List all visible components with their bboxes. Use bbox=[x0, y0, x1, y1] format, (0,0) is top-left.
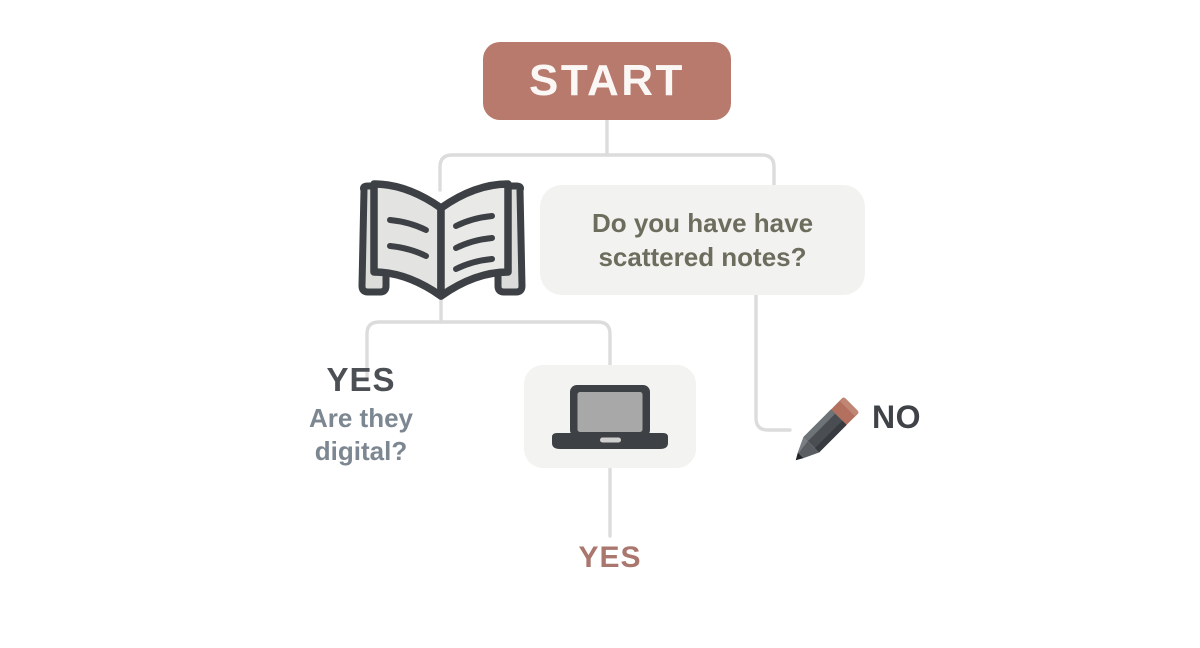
final-yes-label: YES bbox=[520, 543, 700, 573]
no-branch: NO bbox=[783, 388, 943, 474]
question-node[interactable]: Do you have have scattered notes? bbox=[540, 185, 865, 295]
start-node[interactable]: START bbox=[483, 42, 731, 120]
question-text: Do you have have scattered notes? bbox=[573, 206, 833, 275]
yes-branch: YES Are they digital? bbox=[252, 362, 470, 467]
laptop-trackpad bbox=[600, 438, 621, 443]
yes-branch-sublabel-line2: digital? bbox=[315, 436, 407, 466]
open-book-icon[interactable] bbox=[352, 168, 532, 308]
yes-branch-sublabel: Are they digital? bbox=[252, 402, 470, 467]
open-book-glyph bbox=[352, 168, 532, 308]
no-branch-label: NO bbox=[872, 401, 921, 433]
question-text-line2: scattered notes? bbox=[598, 242, 806, 272]
laptop-node[interactable] bbox=[524, 365, 696, 468]
flowchart-canvas: START Do you have have scattered notes? bbox=[0, 0, 1200, 648]
start-label: START bbox=[529, 59, 685, 103]
yes-branch-sublabel-line1: Are they bbox=[309, 403, 413, 433]
pencil-icon bbox=[783, 391, 865, 473]
question-text-line1: Do you have have bbox=[592, 208, 813, 238]
yes-branch-label: YES bbox=[252, 362, 470, 398]
laptop-screen bbox=[578, 392, 643, 432]
laptop-icon bbox=[546, 381, 674, 453]
